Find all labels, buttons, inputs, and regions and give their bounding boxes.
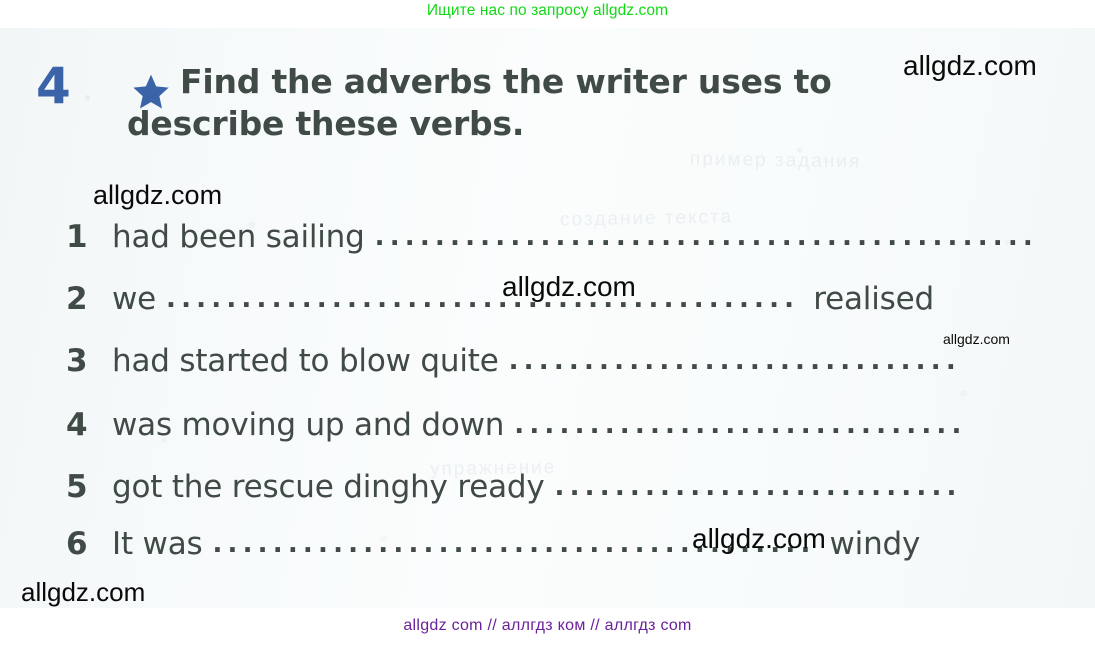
question-row: 1had been sailing.......................… bbox=[66, 222, 1026, 274]
question-text: It was bbox=[112, 529, 202, 560]
answer-blank-dots[interactable]: ........................................… bbox=[365, 224, 1038, 250]
question-number: 5 bbox=[66, 472, 112, 503]
site-watermark: allgdz.com bbox=[943, 331, 1010, 347]
question-text: we bbox=[112, 284, 156, 315]
question-text-tail: realised bbox=[799, 284, 934, 315]
answer-blank-dots[interactable]: .............................. bbox=[504, 412, 966, 438]
question-number: 4 bbox=[66, 410, 112, 441]
top-promo-banner: Ищите нас по запросу allgdz.com bbox=[0, 2, 1095, 20]
answer-blank-dots[interactable]: ........................... bbox=[545, 474, 962, 500]
exercise-number: 4 bbox=[36, 61, 70, 111]
question-row: 5got the rescue dinghy ready............… bbox=[66, 472, 1026, 524]
site-watermark: allgdz.com bbox=[93, 180, 222, 211]
question-text-tail: windy bbox=[816, 529, 921, 560]
bottom-site-strip: allgdz com // аллгдз ком // аллгдз com bbox=[0, 617, 1095, 635]
screenshot-root: создание текстапример заданияупражнение … bbox=[0, 0, 1095, 645]
heading-line-1: Find the adverbs the writer uses to bbox=[180, 61, 940, 103]
question-row: 3had started to blow quite..............… bbox=[66, 346, 1026, 398]
answer-blank-dots[interactable]: ........................................… bbox=[156, 286, 799, 312]
question-number: 1 bbox=[66, 222, 112, 253]
site-watermark: allgdz.com bbox=[21, 577, 145, 608]
scan-ghost-text: пример задания bbox=[690, 149, 862, 174]
question-text: had started to blow quite bbox=[112, 346, 499, 377]
question-text: got the rescue dinghy ready bbox=[112, 472, 545, 503]
question-number: 2 bbox=[66, 284, 112, 315]
site-watermark: allgdz.com bbox=[903, 50, 1037, 82]
question-row: 6It was.................................… bbox=[66, 529, 1026, 581]
question-number: 3 bbox=[66, 346, 112, 377]
exercise-heading: Find the adverbs the writer uses to desc… bbox=[180, 61, 940, 103]
site-watermark: allgdz.com bbox=[692, 523, 826, 555]
site-watermark: allgdz.com bbox=[502, 271, 636, 303]
question-number: 6 bbox=[66, 529, 112, 560]
answer-blank-dots[interactable]: .............................. bbox=[499, 348, 961, 374]
question-row: 4was moving up and down.................… bbox=[66, 410, 1026, 462]
heading-line-2: describe these verbs. bbox=[127, 103, 524, 145]
question-text: was moving up and down bbox=[112, 410, 504, 441]
question-text: had been sailing bbox=[112, 222, 365, 253]
